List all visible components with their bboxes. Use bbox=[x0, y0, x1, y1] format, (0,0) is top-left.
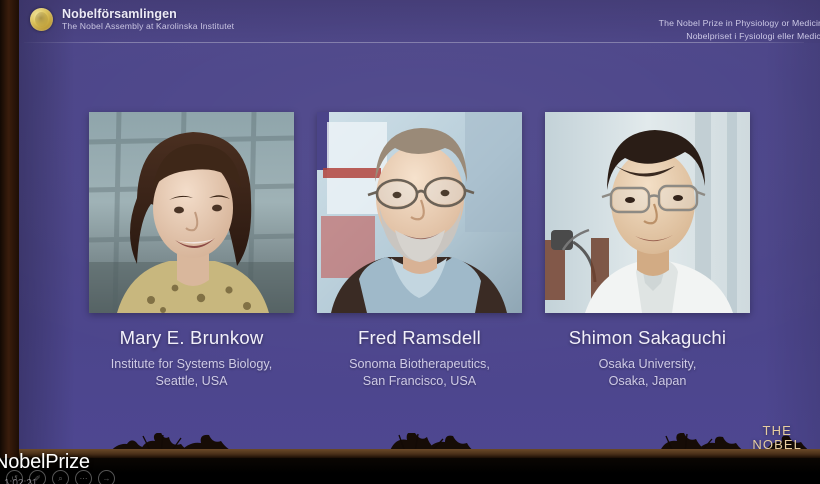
laureate-card-1: Mary E. Brunkow Institute for Systems Bi… bbox=[89, 112, 294, 389]
laureate-affiliation: Institute for Systems Biology, Seattle, … bbox=[89, 356, 294, 389]
zoom-icon[interactable]: ⌕ bbox=[52, 470, 69, 484]
stage-wall-left bbox=[0, 0, 19, 484]
stage-ledge bbox=[19, 449, 820, 458]
portrait-mary-e-brunkow bbox=[89, 112, 294, 313]
forward-icon[interactable]: → bbox=[98, 470, 115, 484]
affiliation-line-1: Institute for Systems Biology, bbox=[89, 356, 294, 373]
brand-text-block: Nobelförsamlingen The Nobel Assembly at … bbox=[62, 7, 234, 32]
nobel-assembly-brand: Nobelförsamlingen The Nobel Assembly at … bbox=[30, 7, 234, 32]
prize-title-block: The Nobel Prize in Physiology or Medicin… bbox=[560, 17, 820, 42]
laureate-name: Fred Ramsdell bbox=[317, 327, 522, 349]
nobel-medal-icon bbox=[30, 8, 53, 31]
organization-name: Nobelförsamlingen bbox=[62, 7, 234, 21]
logotype-line-1: THE bbox=[752, 424, 802, 438]
laureate-affiliation: Sonoma Biotherapeutics, San Francisco, U… bbox=[317, 356, 522, 389]
laureate-affiliation: Osaka University, Osaka, Japan bbox=[545, 356, 750, 389]
affiliation-line-2: Seattle, USA bbox=[89, 373, 294, 390]
prize-title-swedish: Nobelpriset i Fysiologi eller Medicin bbox=[560, 30, 820, 43]
presentation-stage: Nobelförsamlingen The Nobel Assembly at … bbox=[0, 0, 820, 484]
laureate-name: Mary E. Brunkow bbox=[89, 327, 294, 349]
portrait-shimon-sakaguchi bbox=[545, 112, 750, 313]
laureate-name: Shimon Sakaguchi bbox=[545, 327, 750, 349]
prize-title-english: The Nobel Prize in Physiology or Medicin… bbox=[560, 17, 820, 30]
more-icon[interactable]: ⋯ bbox=[75, 470, 92, 484]
organization-subtitle: The Nobel Assembly at Karolinska Institu… bbox=[62, 22, 234, 32]
player-timestamp: 1:02:21 bbox=[4, 478, 37, 484]
affiliation-line-1: Osaka University, bbox=[545, 356, 750, 373]
affiliation-line-2: San Francisco, USA bbox=[317, 373, 522, 390]
laureate-card-2: Fred Ramsdell Sonoma Biotherapeutics, Sa… bbox=[317, 112, 522, 389]
stage-floor bbox=[0, 458, 820, 484]
affiliation-line-1: Sonoma Biotherapeutics, bbox=[317, 356, 522, 373]
laureate-card-3: Shimon Sakaguchi Osaka University, Osaka… bbox=[545, 112, 750, 389]
affiliation-line-2: Osaka, Japan bbox=[545, 373, 750, 390]
portrait-fred-ramsdell bbox=[317, 112, 522, 313]
laureate-row: Mary E. Brunkow Institute for Systems Bi… bbox=[19, 112, 820, 389]
